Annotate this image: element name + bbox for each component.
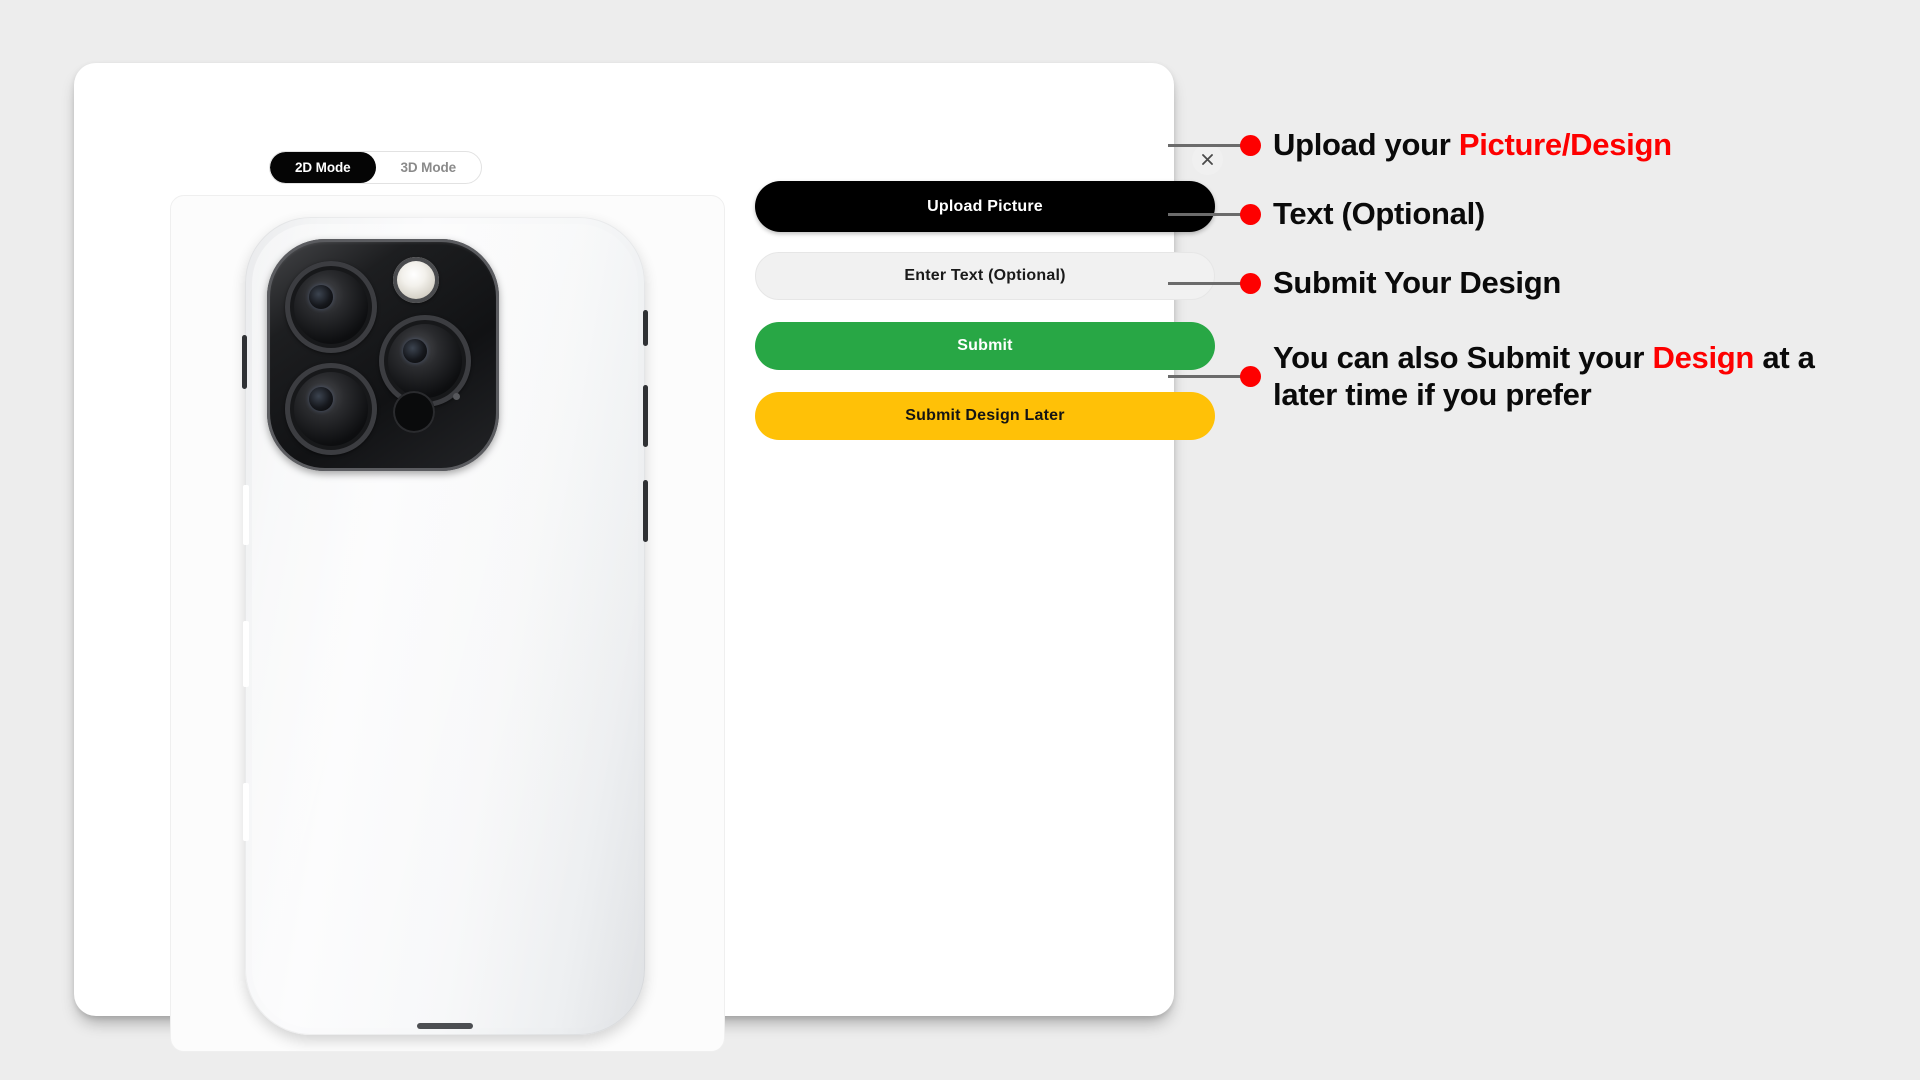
annotation-submit-later-text: You can also Submit your Design at a lat…	[1273, 340, 1873, 413]
design-upload-modal: 2D Mode 3D Mode	[74, 63, 1174, 1016]
phone-left-cutout-2	[243, 621, 249, 687]
phone-action-button	[242, 335, 247, 389]
mode-toggle[interactable]: 2D Mode 3D Mode	[269, 151, 482, 184]
phone-side-button-3	[643, 480, 648, 542]
camera-flash-icon	[393, 257, 439, 303]
leader-dot	[1240, 135, 1261, 156]
submit-button[interactable]: Submit	[755, 322, 1215, 370]
enter-text-input[interactable]: Enter Text (Optional)	[755, 252, 1215, 300]
phone-charging-port	[417, 1023, 473, 1029]
phone-side-button-2	[643, 385, 648, 447]
annotation-upload-plain: Upload your	[1273, 127, 1459, 162]
leader-line	[1168, 213, 1242, 216]
camera-lidar-icon	[453, 393, 460, 400]
leader-dot	[1240, 204, 1261, 225]
annotation-later-plain-prefix: You can also Submit your	[1273, 340, 1653, 375]
annotation-upload-highlight: Picture/Design	[1459, 127, 1672, 162]
leader-line	[1168, 375, 1242, 378]
leader-dot	[1240, 273, 1261, 294]
leader-dot	[1240, 366, 1261, 387]
phone-left-cutout-1	[243, 485, 249, 545]
leader-line	[1168, 282, 1242, 285]
mode-toggle-3d[interactable]: 3D Mode	[376, 152, 482, 183]
product-preview-panel[interactable]	[170, 195, 725, 1052]
annotation-callouts: Upload your Picture/Design Text (Optiona…	[1168, 0, 1920, 1080]
camera-lens-2	[285, 363, 377, 455]
action-button-group: Upload Picture Enter Text (Optional) Sub…	[755, 181, 1215, 440]
submit-design-later-button[interactable]: Submit Design Later	[755, 392, 1215, 440]
annotation-text: Text (Optional)	[1168, 196, 1485, 233]
leader-line	[1168, 144, 1242, 147]
annotation-submit-label: Submit Your Design	[1273, 265, 1561, 302]
upload-picture-button[interactable]: Upload Picture	[755, 181, 1215, 232]
annotation-upload: Upload your Picture/Design	[1168, 127, 1672, 164]
annotation-upload-text: Upload your Picture/Design	[1273, 127, 1672, 164]
camera-lens-1	[285, 261, 377, 353]
camera-module	[267, 239, 499, 471]
phone-side-button-1	[643, 310, 648, 346]
camera-microphone-icon	[393, 391, 435, 433]
annotation-later-highlight: Design	[1653, 340, 1755, 375]
annotation-text-label: Text (Optional)	[1273, 196, 1485, 233]
annotation-submit: Submit Your Design	[1168, 265, 1561, 302]
annotation-submit-later: You can also Submit your Design at a lat…	[1168, 340, 1873, 413]
phone-left-cutout-3	[243, 783, 249, 841]
mode-toggle-2d[interactable]: 2D Mode	[270, 152, 376, 183]
phone-case-render	[245, 217, 645, 1035]
